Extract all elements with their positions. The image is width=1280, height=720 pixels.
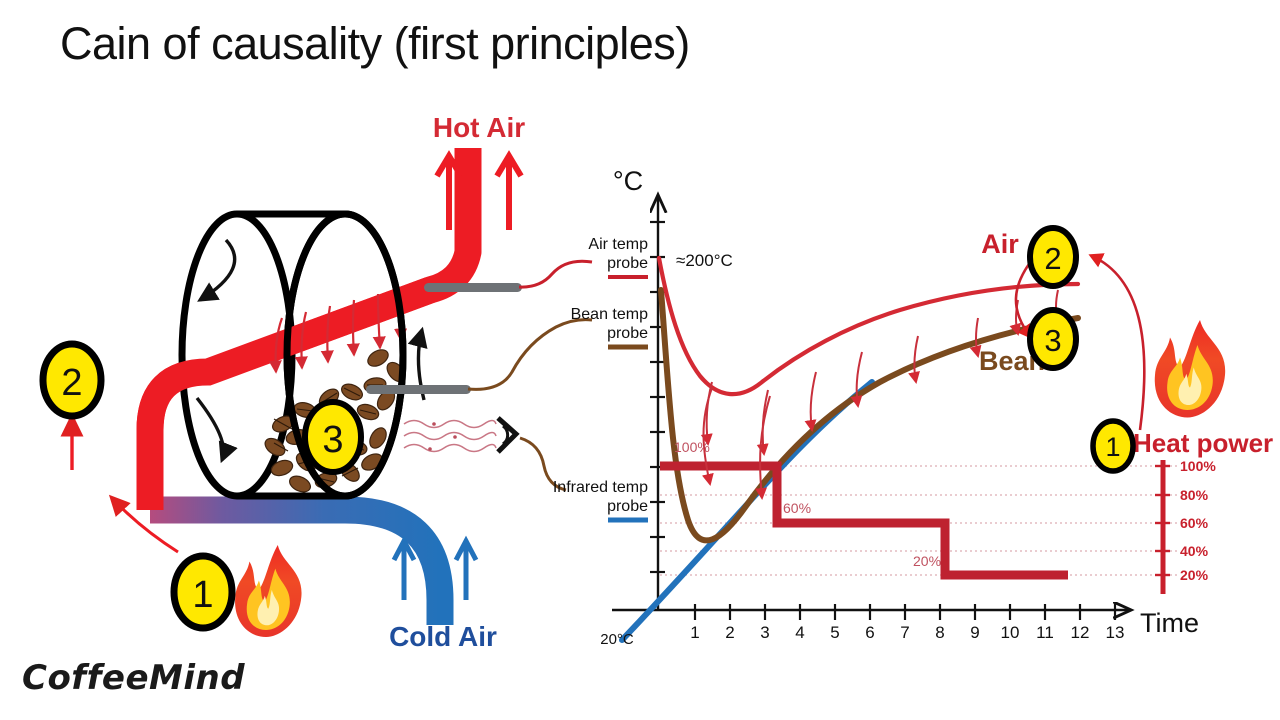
slide-canvas: Cain of causality (first principles) Cof… [0, 0, 1280, 720]
badge-chart-heat-1[interactable]: 1 [1093, 421, 1133, 471]
badge-airflow-2[interactable]: 2 [43, 344, 101, 416]
badge-heat-1[interactable]: 1 [174, 556, 232, 628]
badge-label: 1 [1105, 432, 1120, 462]
badge-label: 2 [61, 362, 82, 404]
badge-label: 3 [322, 419, 343, 461]
badge-bean-3[interactable]: 3 [305, 402, 361, 472]
cold-air-label: Cold Air [389, 621, 497, 652]
badge-label: 3 [1044, 323, 1061, 358]
badge-chart-bean-3[interactable]: 3 [1030, 310, 1076, 368]
hot-air-label: Hot Air [433, 112, 525, 143]
badges-layer: Hot Air Cold Air 2 3 1 2 3 [0, 0, 1280, 720]
badge-label: 2 [1044, 241, 1061, 276]
badge-chart-air-2[interactable]: 2 [1030, 228, 1076, 286]
badge-label: 1 [192, 574, 213, 616]
